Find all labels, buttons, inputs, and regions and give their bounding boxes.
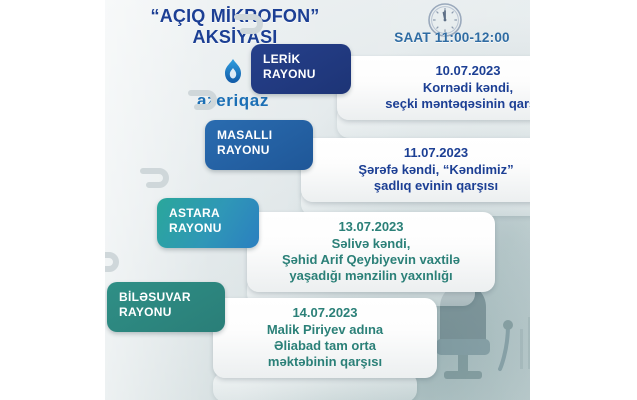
event-date: 14.07.2023 xyxy=(223,304,427,322)
event-date: 13.07.2023 xyxy=(257,218,485,236)
event-card-masalli: 11.07.2023 Şərəfə kəndi, “Kəndimiz” şadl… xyxy=(301,138,530,202)
tab-connector-icon xyxy=(139,167,173,194)
event-card-astara: 13.07.2023 Səlivə kəndi, Şəhid Arif Qeyb… xyxy=(247,212,495,292)
event-card-lerik: 10.07.2023 Kornədi kəndi, seçki məntəqəs… xyxy=(337,56,530,120)
time-label: SAAT 11:00-12:00 xyxy=(367,30,530,45)
district-tab-masalli[interactable]: MASALLI RAYONU xyxy=(205,120,313,170)
event-address: Kornədi kəndi, seçki məntəqəsinin qarşıs… xyxy=(347,80,530,112)
event-address: Səlivə kəndi, Şəhid Arif Qeybiyevin vaxt… xyxy=(257,236,485,284)
district-tab-lerik[interactable]: LERİK RAYONU xyxy=(251,44,351,94)
tab-connector-icon xyxy=(187,89,221,116)
tab-connector-icon xyxy=(105,251,123,278)
event-address: Malik Piriyev adına Əliabad tam orta mək… xyxy=(223,322,427,370)
tab-connector-icon xyxy=(233,13,267,40)
event-date: 10.07.2023 xyxy=(347,62,530,80)
event-card-bilesuvar: 14.07.2023 Malik Piriyev adına Əliabad t… xyxy=(213,298,437,378)
district-tab-bilesuvar[interactable]: BİLƏSUVAR RAYONU xyxy=(107,282,225,332)
poster-canvas: “AÇIQ MİKROFON” AKSİYASI azeriqaz xyxy=(105,0,530,400)
district-tab-astara[interactable]: ASTARA RAYONU xyxy=(157,198,259,248)
event-date: 11.07.2023 xyxy=(311,144,530,162)
event-address: Şərəfə kəndi, “Kəndimiz” şadlıq evinin q… xyxy=(311,162,530,194)
